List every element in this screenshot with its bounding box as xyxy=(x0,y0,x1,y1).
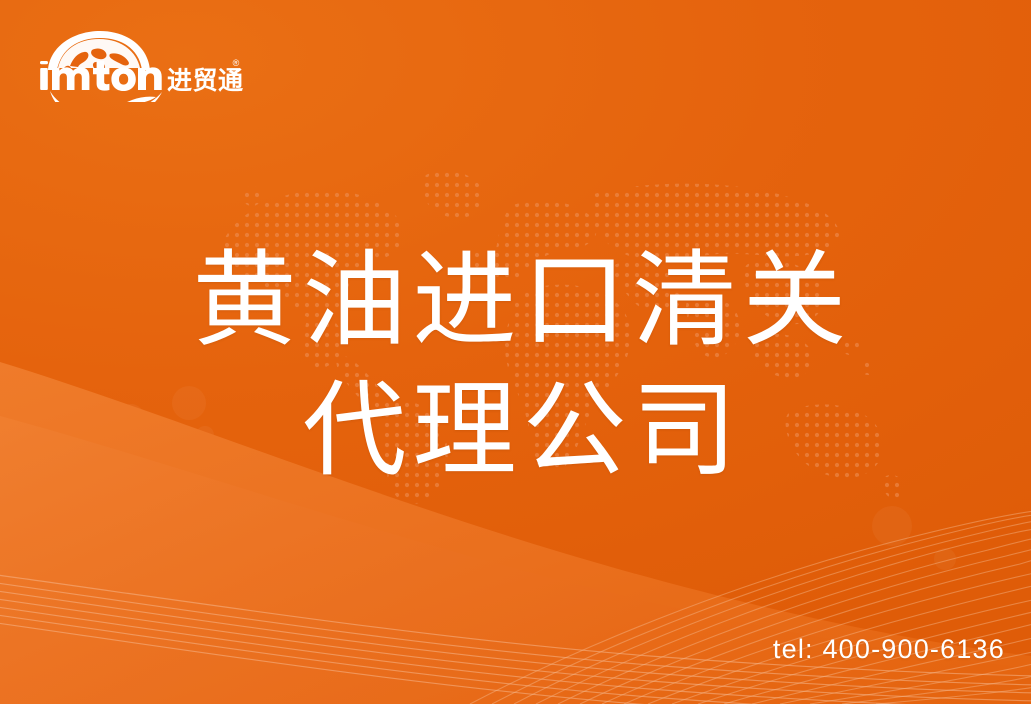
contact-telephone[interactable]: tel: 400-900-6136 xyxy=(773,634,1005,665)
headline-line-2: 代理公司 xyxy=(0,366,1031,496)
logo-chinese-name: 进贸通 xyxy=(167,66,244,95)
headline-line-1: 黄油进口清关 xyxy=(0,236,1031,366)
promo-banner: 进贸通 ® 黄油进口清关 代理公司 tel: 400-900-6136 xyxy=(0,0,1031,704)
page-title: 黄油进口清关 代理公司 xyxy=(0,236,1031,496)
plane-swoosh xyxy=(50,91,162,102)
company-logo[interactable]: 进贸通 ® xyxy=(36,28,246,102)
trademark-symbol: ® xyxy=(233,58,240,68)
